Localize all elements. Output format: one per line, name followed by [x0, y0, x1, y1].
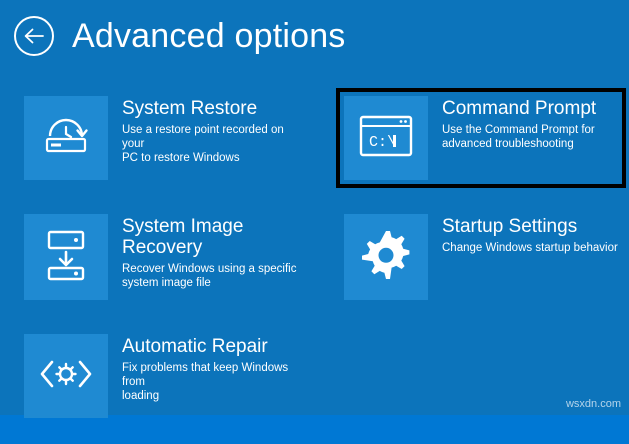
option-text: Command Prompt Use the Command Prompt fo…	[442, 96, 596, 151]
header: Advanced options	[0, 0, 346, 72]
system-restore-icon	[40, 114, 92, 163]
disk-drive-icon	[43, 228, 89, 287]
option-system-restore[interactable]: System Restore Use a restore point recor…	[16, 88, 306, 188]
option-title: Startup Settings	[442, 216, 618, 237]
back-button[interactable]	[14, 16, 54, 56]
command-prompt-icon: C:\	[357, 113, 415, 164]
option-tile	[24, 334, 108, 418]
option-tile: C:\	[344, 96, 428, 180]
options-column-left: System Restore Use a restore point recor…	[16, 88, 306, 444]
option-text: Startup Settings Change Windows startup …	[442, 214, 618, 255]
option-description: Change Windows startup behavior	[442, 241, 618, 255]
option-title: Command Prompt	[442, 98, 596, 119]
option-description: Use a restore point recorded on your PC …	[122, 123, 298, 165]
option-title: System Restore	[122, 98, 298, 119]
option-startup-settings[interactable]: Startup Settings Change Windows startup …	[336, 206, 626, 308]
option-command-prompt[interactable]: C:\ Command Prompt Use the Command Promp…	[336, 88, 626, 188]
repair-gear-icon	[38, 354, 94, 399]
option-title: Automatic Repair	[122, 336, 298, 357]
option-tile	[344, 214, 428, 300]
option-description: Recover Windows using a specific system …	[122, 262, 297, 290]
advanced-options-screen: Advanced options	[0, 0, 629, 415]
options-column-right: C:\ Command Prompt Use the Command Promp…	[336, 88, 626, 326]
option-description: Fix problems that keep Windows from load…	[122, 361, 298, 403]
option-tile	[24, 214, 108, 300]
page-title: Advanced options	[72, 19, 346, 53]
option-text: System Image Recovery Recover Windows us…	[122, 214, 297, 290]
option-system-image-recovery[interactable]: System Image Recovery Recover Windows us…	[16, 206, 306, 308]
option-tile	[24, 96, 108, 180]
option-text: System Restore Use a restore point recor…	[122, 96, 298, 165]
option-automatic-repair[interactable]: Automatic Repair Fix problems that keep …	[16, 326, 306, 426]
option-description: Use the Command Prompt for advanced trou…	[442, 123, 596, 151]
option-title: System Image Recovery	[122, 216, 297, 258]
svg-text:C:\: C:\	[369, 134, 396, 151]
gear-icon	[358, 227, 414, 288]
arrow-left-icon	[23, 27, 45, 45]
option-text: Automatic Repair Fix problems that keep …	[122, 334, 298, 403]
watermark: wsxdn.com	[566, 398, 621, 410]
